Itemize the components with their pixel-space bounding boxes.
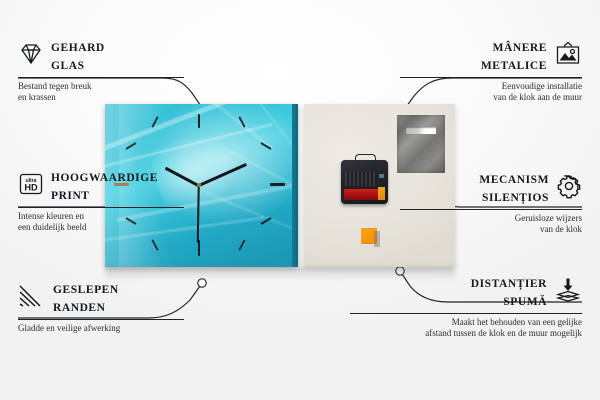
gear-icon [556, 173, 582, 204]
callout-title: MÂNERE [493, 42, 547, 54]
callout-rule [18, 319, 184, 320]
svg-text:HD: HD [24, 182, 38, 192]
callout-title: MECANISM [479, 174, 549, 186]
callout-ground-edges: GESLEPEN RANDEN Gladde en veilige afwerk… [18, 280, 198, 334]
callout-subtitle: Bestand tegen breuken krassen [18, 81, 188, 103]
orange-foam-spacer [361, 228, 377, 244]
battery-label [344, 189, 384, 200]
callout-title: GEHARD [51, 42, 105, 54]
picture-frame-hook-icon [554, 41, 582, 72]
callout-rule [350, 313, 582, 314]
diagonal-lines-icon [18, 284, 46, 313]
callout-subtitle: Gladde en veilige afwerking [18, 323, 198, 334]
diamond-icon [18, 43, 44, 70]
callout-subtitle: Intense kleuren eneen duidelijk beeld [18, 211, 198, 233]
callout-rule [18, 77, 184, 78]
callout-title-2: PRINT [51, 190, 90, 202]
mechanism-hanging-tab [355, 154, 376, 163]
mechanism-indicator [379, 174, 384, 178]
callout-silent-mechanism: MECANISM SILENȚIOS Geruisloze wijzersvan… [396, 170, 582, 235]
arrow-into-layers-icon [554, 277, 582, 308]
callout-rule [400, 77, 582, 78]
callout-subtitle: Maakt het behouden van een gelijkeafstan… [346, 317, 582, 339]
callout-title-2: SILENȚIOS [482, 192, 549, 204]
callout-title-2: SPUMĂ [503, 296, 547, 308]
callout-rule [18, 207, 184, 208]
callout-title-2: GLAS [51, 60, 85, 72]
ultra-hd-icon: ultra HD [18, 172, 44, 201]
metal-hanger-plate [397, 115, 445, 173]
hanger-slot [406, 127, 436, 134]
callout-foam-spacer: DISTANȚIER SPUMĂ Maakt het behouden van … [346, 274, 582, 339]
callout-hd-print: ultra HD HOOGWAARDIGE PRINT Intense kleu… [18, 168, 198, 233]
mechanism-vents [345, 172, 375, 186]
callout-title: DISTANȚIER [471, 278, 547, 290]
callout-title: HOOGWAARDIGE [51, 172, 158, 184]
callout-title-2: RANDEN [53, 302, 106, 314]
callout-subtitle: Eenvoudige installatievan de klok aan de… [396, 81, 582, 103]
quartz-clock-mechanism [341, 160, 388, 204]
infographic-canvas: GEHARD GLAS Bestand tegen breuken krasse… [0, 0, 600, 400]
callout-title-2: METALICE [481, 60, 547, 72]
callout-title: GESLEPEN [53, 284, 119, 296]
glass-ground-edge [292, 104, 298, 267]
callout-rule [400, 209, 582, 210]
callout-metal-handles: MÂNERE METALICE Eenvoudige installatieva… [396, 38, 582, 103]
callout-subtitle: Geruisloze wijzersvan de klok [396, 213, 582, 235]
callout-tempered-glass: GEHARD GLAS Bestand tegen breuken krasse… [18, 38, 188, 103]
